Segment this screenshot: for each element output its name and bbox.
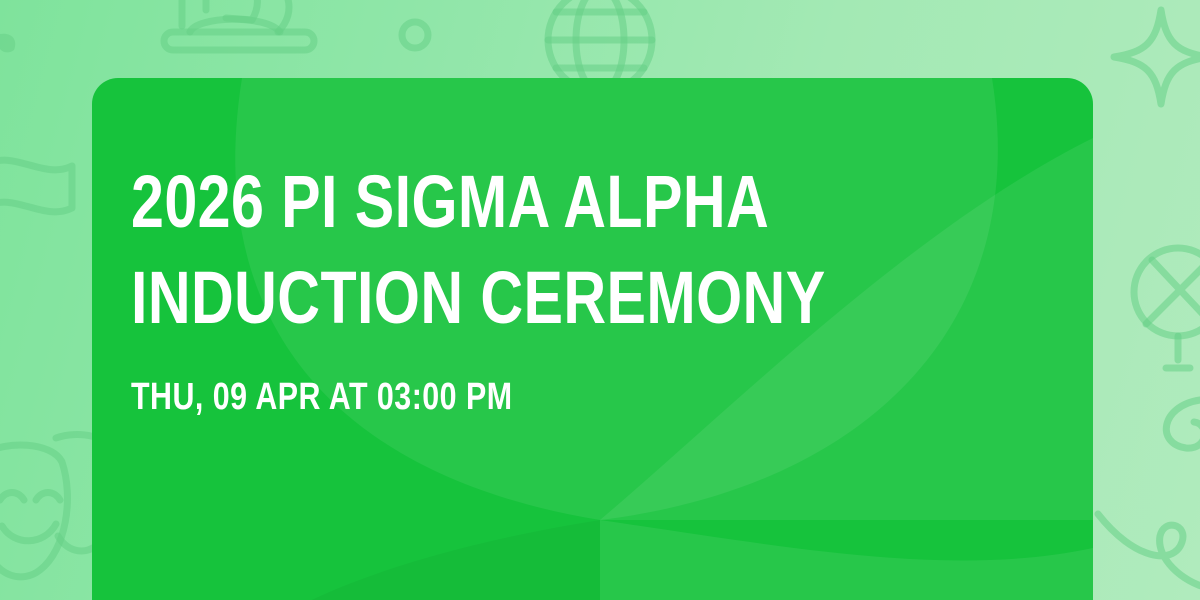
ring-doodle xyxy=(392,12,438,58)
lantern-doodle xyxy=(1122,230,1200,390)
streamer-swirl-doodle xyxy=(1090,396,1200,600)
flag-banner-doodle xyxy=(0,146,94,256)
event-title-line-2: INDUCTION CEREMONY xyxy=(131,250,851,346)
event-date-time: THU, 09 APR AT 03:00 PM xyxy=(131,377,851,417)
confetti-dot-doodle xyxy=(0,30,54,90)
event-card: 2026 PI SIGMA ALPHA INDUCTION CEREMONY T… xyxy=(92,78,1093,600)
card-text-block: 2026 PI SIGMA ALPHA INDUCTION CEREMONY T… xyxy=(131,154,1031,417)
sparkle-doodle xyxy=(1106,2,1200,112)
event-title-line-1: 2026 PI SIGMA ALPHA xyxy=(131,154,851,250)
